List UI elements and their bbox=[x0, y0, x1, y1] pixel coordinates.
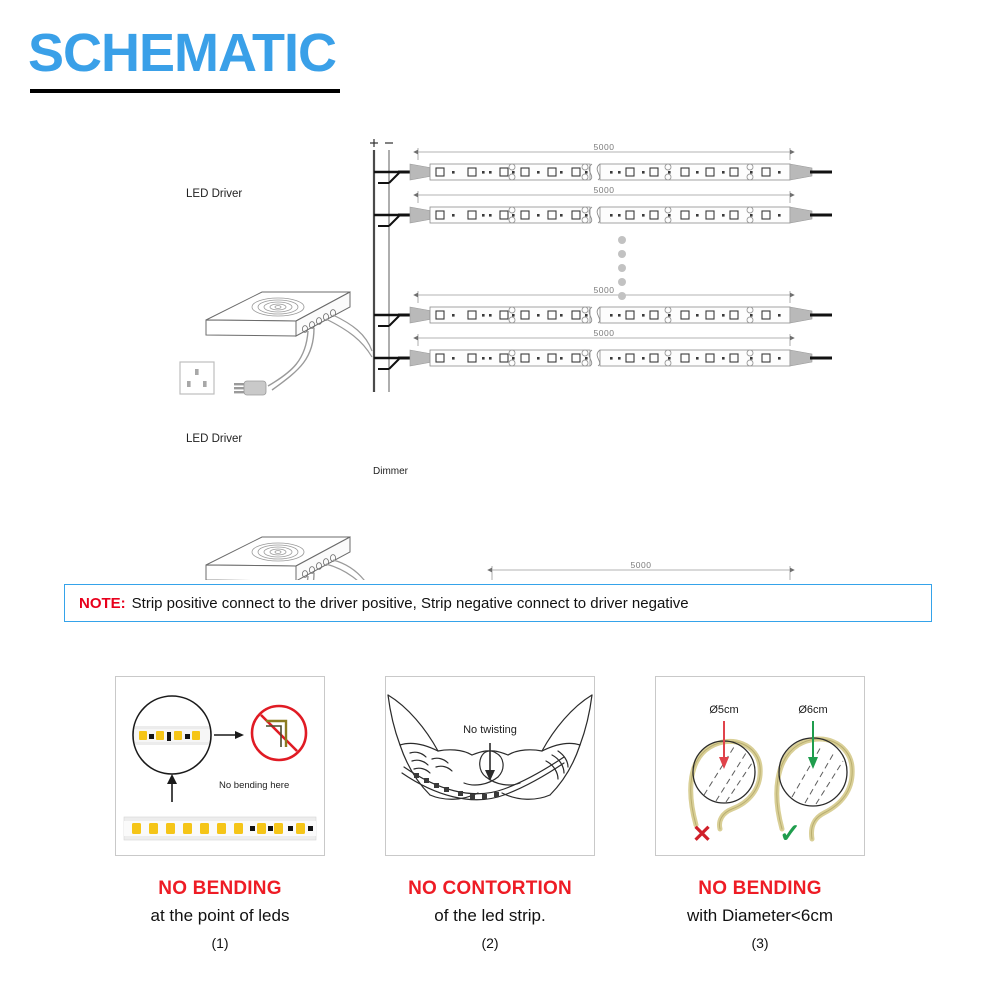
panel-no-bending-diameter: Ø5cm ✕ Ø6cm ✓ bbox=[655, 676, 865, 856]
strip-dimension-3: 5000 bbox=[594, 285, 615, 295]
strip-dimension-1: 5000 bbox=[594, 142, 615, 152]
strip-row-dimmer bbox=[470, 566, 838, 580]
page-title: SCHEMATIC bbox=[28, 26, 336, 80]
dimmer-label: Dimmer bbox=[373, 466, 408, 477]
wiring-schematic bbox=[0, 110, 1000, 580]
led-driver-top bbox=[206, 292, 372, 390]
panel-3-illustration: Ø5cm ✕ Ø6cm ✓ bbox=[656, 677, 864, 855]
panel-2-inner-text: No twisting bbox=[463, 724, 517, 736]
panel-no-bending-leds: No bending here bbox=[115, 676, 325, 856]
caption-2-title: NO CONTORTION bbox=[360, 878, 620, 901]
led-driver-bottom bbox=[206, 537, 371, 580]
power-plug-top bbox=[234, 381, 266, 395]
loop-bad: Ø5cm ✕ bbox=[691, 704, 760, 848]
note-box: NOTE: Strip positive connect to the driv… bbox=[64, 584, 932, 622]
panel-3-label-right: Ø6cm bbox=[798, 704, 827, 716]
caption-2-subtitle: of the led strip. bbox=[360, 905, 620, 926]
cross-mark-icon: ✕ bbox=[692, 821, 712, 848]
panel-1-inner-text: No bending here bbox=[219, 780, 289, 791]
panel-3-label-left: Ø5cm bbox=[709, 704, 738, 716]
panel-1-illustration: No bending here bbox=[116, 677, 324, 855]
caption-2-number: (2) bbox=[360, 935, 620, 951]
strip-row-2 bbox=[374, 191, 832, 226]
dc-bus-bars bbox=[370, 139, 393, 392]
caption-3: NO BENDING with Diameter<6cm (3) bbox=[630, 878, 890, 951]
panel-no-contortion: No twisting bbox=[385, 676, 595, 856]
note-label: NOTE: bbox=[79, 595, 126, 612]
title-underline bbox=[30, 89, 340, 93]
caption-1-number: (1) bbox=[90, 935, 350, 951]
caption-3-subtitle: with Diameter<6cm bbox=[630, 905, 890, 926]
led-driver-label-top: LED Driver bbox=[186, 188, 242, 200]
schematic-page: SCHEMATIC bbox=[0, 0, 1000, 1000]
caption-1: NO BENDING at the point of leds (1) bbox=[90, 878, 350, 951]
strip-row-3 bbox=[374, 291, 832, 326]
strip-dimension-2: 5000 bbox=[594, 185, 615, 195]
panel-2-illustration: No twisting bbox=[386, 677, 594, 855]
strip-dimension-dimmer: 5000 bbox=[631, 560, 652, 570]
page-title-block: SCHEMATIC bbox=[28, 26, 336, 80]
caption-1-title: NO BENDING bbox=[90, 878, 350, 901]
caption-1-subtitle: at the point of leds bbox=[90, 905, 350, 926]
check-mark-icon: ✓ bbox=[779, 818, 801, 848]
loop-good: Ø6cm ✓ bbox=[777, 704, 852, 848]
repeat-ellipsis-dots bbox=[618, 236, 626, 300]
strip-row-4 bbox=[374, 334, 832, 369]
caption-2: NO CONTORTION of the led strip. (2) bbox=[360, 878, 620, 951]
note-text: Strip positive connect to the driver pos… bbox=[132, 595, 689, 612]
strip-row-1 bbox=[374, 148, 832, 183]
caption-3-title: NO BENDING bbox=[630, 878, 890, 901]
strip-dimension-4: 5000 bbox=[594, 328, 615, 338]
caption-3-number: (3) bbox=[630, 935, 890, 951]
led-driver-label-bottom: LED Driver bbox=[186, 433, 242, 445]
wall-socket-top bbox=[180, 362, 214, 394]
